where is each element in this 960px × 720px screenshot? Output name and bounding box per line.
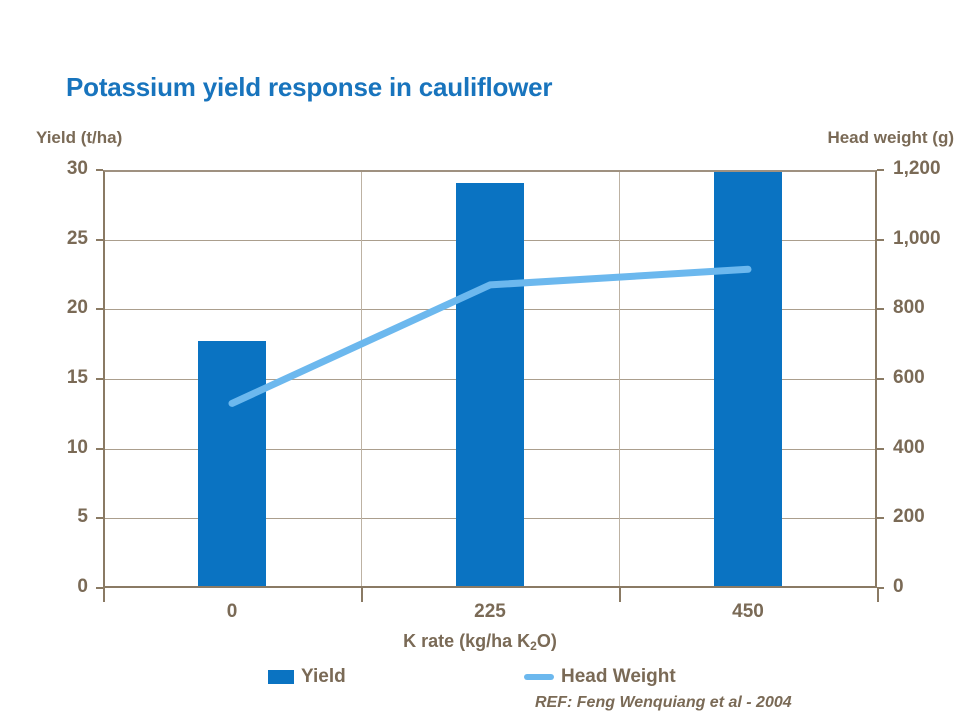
x-tick-mark: [361, 588, 363, 602]
right-tick-label: 600: [893, 367, 925, 389]
right-tick-mark: [877, 169, 884, 171]
right-tick-mark: [877, 517, 884, 519]
x-tick-label: 450: [732, 601, 764, 623]
left-tick-mark: [96, 587, 103, 589]
left-axis-title: Yield (t/ha): [36, 128, 122, 148]
left-tick-mark: [96, 308, 103, 310]
legend-swatch-head-weight-icon: [524, 674, 554, 680]
left-tick-mark: [96, 239, 103, 241]
left-tick-mark: [96, 169, 103, 171]
x-axis-title-prefix: K rate (kg/ha K: [403, 631, 530, 651]
legend-swatch-yield-icon: [268, 670, 294, 684]
x-axis-title: K rate (kg/ha K2O): [0, 631, 960, 652]
left-tick-label: 30: [67, 158, 88, 180]
chart-container: Potassium yield response in cauliflower …: [0, 0, 960, 720]
legend-label-yield: Yield: [301, 666, 346, 688]
right-tick-mark: [877, 308, 884, 310]
x-tick-mark: [103, 588, 105, 602]
right-tick-label: 0: [893, 576, 904, 598]
x-tick-mark: [877, 588, 879, 602]
legend-item-yield[interactable]: Yield: [268, 666, 346, 688]
plot-area: [103, 170, 877, 588]
chart-title: Potassium yield response in cauliflower: [66, 72, 552, 103]
x-axis-title-subscript: 2: [530, 639, 537, 653]
left-tick-label: 15: [67, 367, 88, 389]
left-tick-label: 20: [67, 297, 88, 319]
left-tick-label: 0: [77, 576, 88, 598]
x-tick-label: 225: [474, 601, 506, 623]
right-tick-mark: [877, 448, 884, 450]
reference-citation: REF: Feng Wenquiang et al - 2004: [535, 694, 792, 712]
left-tick-mark: [96, 448, 103, 450]
left-tick-label: 5: [77, 506, 88, 528]
right-tick-label: 1,200: [893, 158, 941, 180]
right-tick-mark: [877, 378, 884, 380]
legend-label-head-weight: Head Weight: [561, 666, 676, 688]
x-axis-title-suffix: O): [537, 631, 557, 651]
right-axis-title: Head weight (g): [827, 128, 954, 148]
right-tick-label: 400: [893, 437, 925, 459]
x-tick-label: 0: [227, 601, 238, 623]
left-tick-label: 10: [67, 437, 88, 459]
left-tick-mark: [96, 378, 103, 380]
right-tick-label: 200: [893, 506, 925, 528]
plot-frame: [103, 170, 877, 588]
right-tick-mark: [877, 239, 884, 241]
legend-item-head-weight[interactable]: Head Weight: [524, 666, 676, 688]
right-tick-label: 1,000: [893, 228, 941, 250]
left-tick-mark: [96, 517, 103, 519]
left-tick-label: 25: [67, 228, 88, 250]
x-tick-mark: [619, 588, 621, 602]
right-tick-label: 800: [893, 297, 925, 319]
